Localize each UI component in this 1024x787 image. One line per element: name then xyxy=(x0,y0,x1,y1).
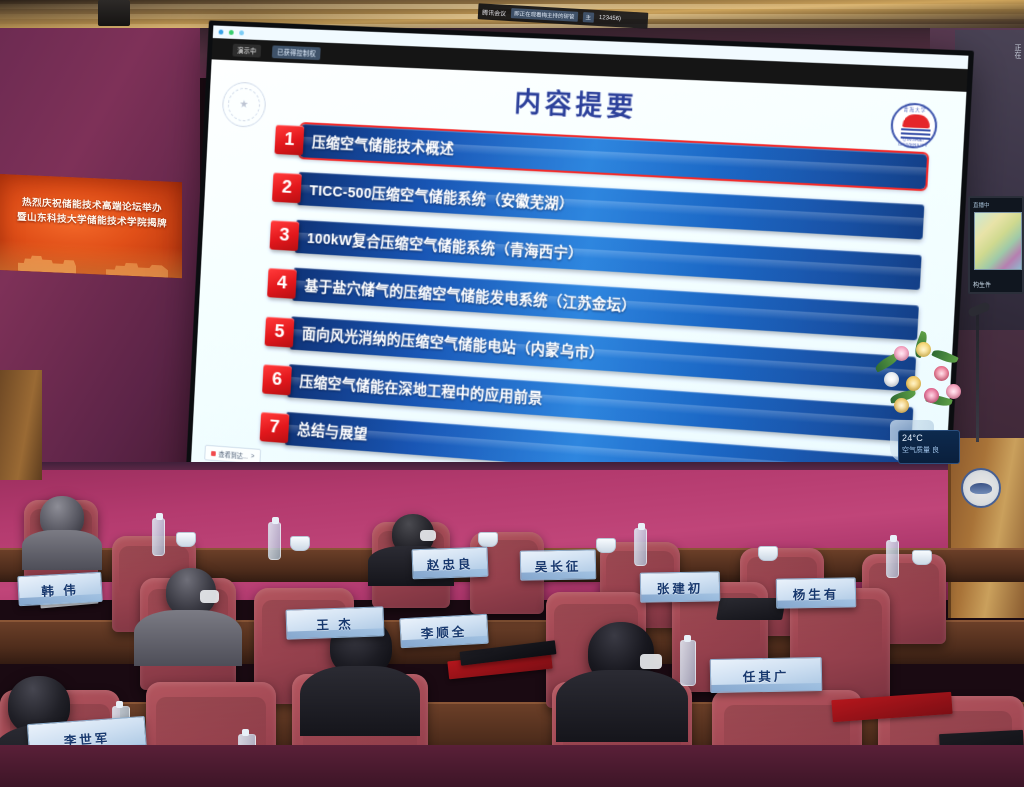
floor-carpet xyxy=(0,745,1024,787)
wall-sign: 正在 xyxy=(984,44,1022,59)
nameplate: 赵忠良 xyxy=(411,547,488,580)
attendee-body xyxy=(300,666,420,736)
annotation-label: 查看到达... xyxy=(218,449,248,461)
item-number: 6 xyxy=(262,364,292,395)
face-mask xyxy=(420,530,436,541)
slide-canvas: 青海大学 QINGHAI UNIVERSITY 内容提要 1 压缩空气储能技术概… xyxy=(191,59,967,521)
strip-app-name: 腾讯会议 xyxy=(482,7,506,17)
nameplate: 任其广 xyxy=(710,657,823,693)
nameplate-text: 王 杰 xyxy=(316,613,354,633)
face-mask xyxy=(200,590,219,603)
status-chip-control: 已获得控制权 xyxy=(272,45,321,60)
weather-label: 空气质量 良 xyxy=(902,445,956,455)
window-dot-3[interactable] xyxy=(239,30,244,35)
item-label: 总结与展望 xyxy=(285,418,368,445)
attendee-body xyxy=(134,610,242,666)
aux-live-badge: 直播中 xyxy=(973,201,990,209)
face-mask xyxy=(640,654,662,669)
nameplate: 张建初 xyxy=(640,571,721,602)
status-chip-presenting: 演示中 xyxy=(232,43,261,57)
item-label: 100kW复合压缩空气储能系统（青海西宁） xyxy=(295,226,583,263)
weather-temperature: 24°C xyxy=(902,433,956,443)
item-number: 5 xyxy=(265,316,295,347)
item-number: 2 xyxy=(272,173,302,204)
item-label: 压缩空气储能技术概述 xyxy=(300,130,455,158)
conference-hall-scene: 正在 热烈庆祝储能技术高端论坛举办 暨山东科技大学储能技术学院揭牌 腾讯会议 即… xyxy=(0,0,1024,787)
celebration-banner: 热烈庆祝储能技术高端论坛举办 暨山东科技大学储能技术学院揭牌 xyxy=(0,174,182,278)
nameplate-text: 吴长征 xyxy=(535,555,582,575)
teacup xyxy=(596,538,616,553)
nameplate-text: 韩 伟 xyxy=(41,579,79,600)
water-bottle xyxy=(680,640,696,686)
water-bottle xyxy=(886,540,899,578)
ceiling-speaker xyxy=(98,0,130,26)
teacup xyxy=(176,532,196,547)
nameplate-text: 杨生有 xyxy=(793,583,840,603)
banner-text: 热烈庆祝储能技术高端论坛举办 暨山东科技大学储能技术学院揭牌 xyxy=(8,194,176,232)
aux-caption: 构生件 xyxy=(973,280,991,289)
item-label: 面向风光消纳的压缩空气储能电站（内蒙乌市） xyxy=(290,322,604,364)
annotation-icon xyxy=(211,451,216,456)
audience-area: 韩 伟 赵忠良 吴长征 张建初 杨生有 王 杰 李顺全 任其广 李世军 高 宇 xyxy=(0,470,1024,787)
teacup xyxy=(912,550,932,565)
outline-list: 1 压缩空气储能技术概述 2 TICC-500压缩空气储能系统（安徽芜湖） 3 xyxy=(260,123,928,493)
nameplate-text: 任其广 xyxy=(743,665,790,685)
auxiliary-monitor: 直播中 构生件 xyxy=(968,196,1024,294)
water-bottle xyxy=(268,522,281,560)
nameplate-text: 张建初 xyxy=(657,577,704,597)
item-number: 3 xyxy=(270,220,300,251)
china-map-graphic xyxy=(974,212,1022,270)
teacup xyxy=(290,536,310,551)
item-number: 1 xyxy=(274,125,304,156)
nameplate: 李顺全 xyxy=(399,614,488,649)
weather-widget: 24°C 空气质量 良 xyxy=(898,430,960,464)
item-label: TICC-500压缩空气储能系统（安徽芜湖） xyxy=(298,178,575,214)
nameplate: 韩 伟 xyxy=(17,572,102,606)
water-bottle xyxy=(634,528,647,566)
window-dot-1[interactable] xyxy=(219,30,224,35)
window-dot-2[interactable] xyxy=(229,30,234,35)
attendee-body xyxy=(22,530,102,570)
item-number: 7 xyxy=(260,412,290,443)
item-label: 压缩空气储能在深地工程中的应用前景 xyxy=(288,370,544,409)
teacup xyxy=(758,546,778,561)
item-label: 基于盐穴储气的压缩空气储能发电系统（江苏金坛） xyxy=(293,274,637,316)
item-number: 4 xyxy=(267,268,297,299)
strip-meeting-id: 123456) xyxy=(599,15,621,22)
nameplate: 王 杰 xyxy=(286,606,385,639)
water-bottle xyxy=(152,518,165,556)
side-lectern xyxy=(0,370,42,480)
nameplate: 杨生有 xyxy=(776,577,857,608)
teacup xyxy=(478,532,498,547)
nameplate-text: 赵忠良 xyxy=(426,553,473,574)
strip-host-flag: 主 xyxy=(582,12,594,23)
strip-meeting-title: 即正在观看梅主持的研管 xyxy=(511,8,578,22)
chevron-right-icon: > xyxy=(251,453,255,460)
nameplate: 吴长征 xyxy=(520,549,597,580)
nameplate-text: 李顺全 xyxy=(420,620,467,641)
attendee-body xyxy=(556,670,688,742)
